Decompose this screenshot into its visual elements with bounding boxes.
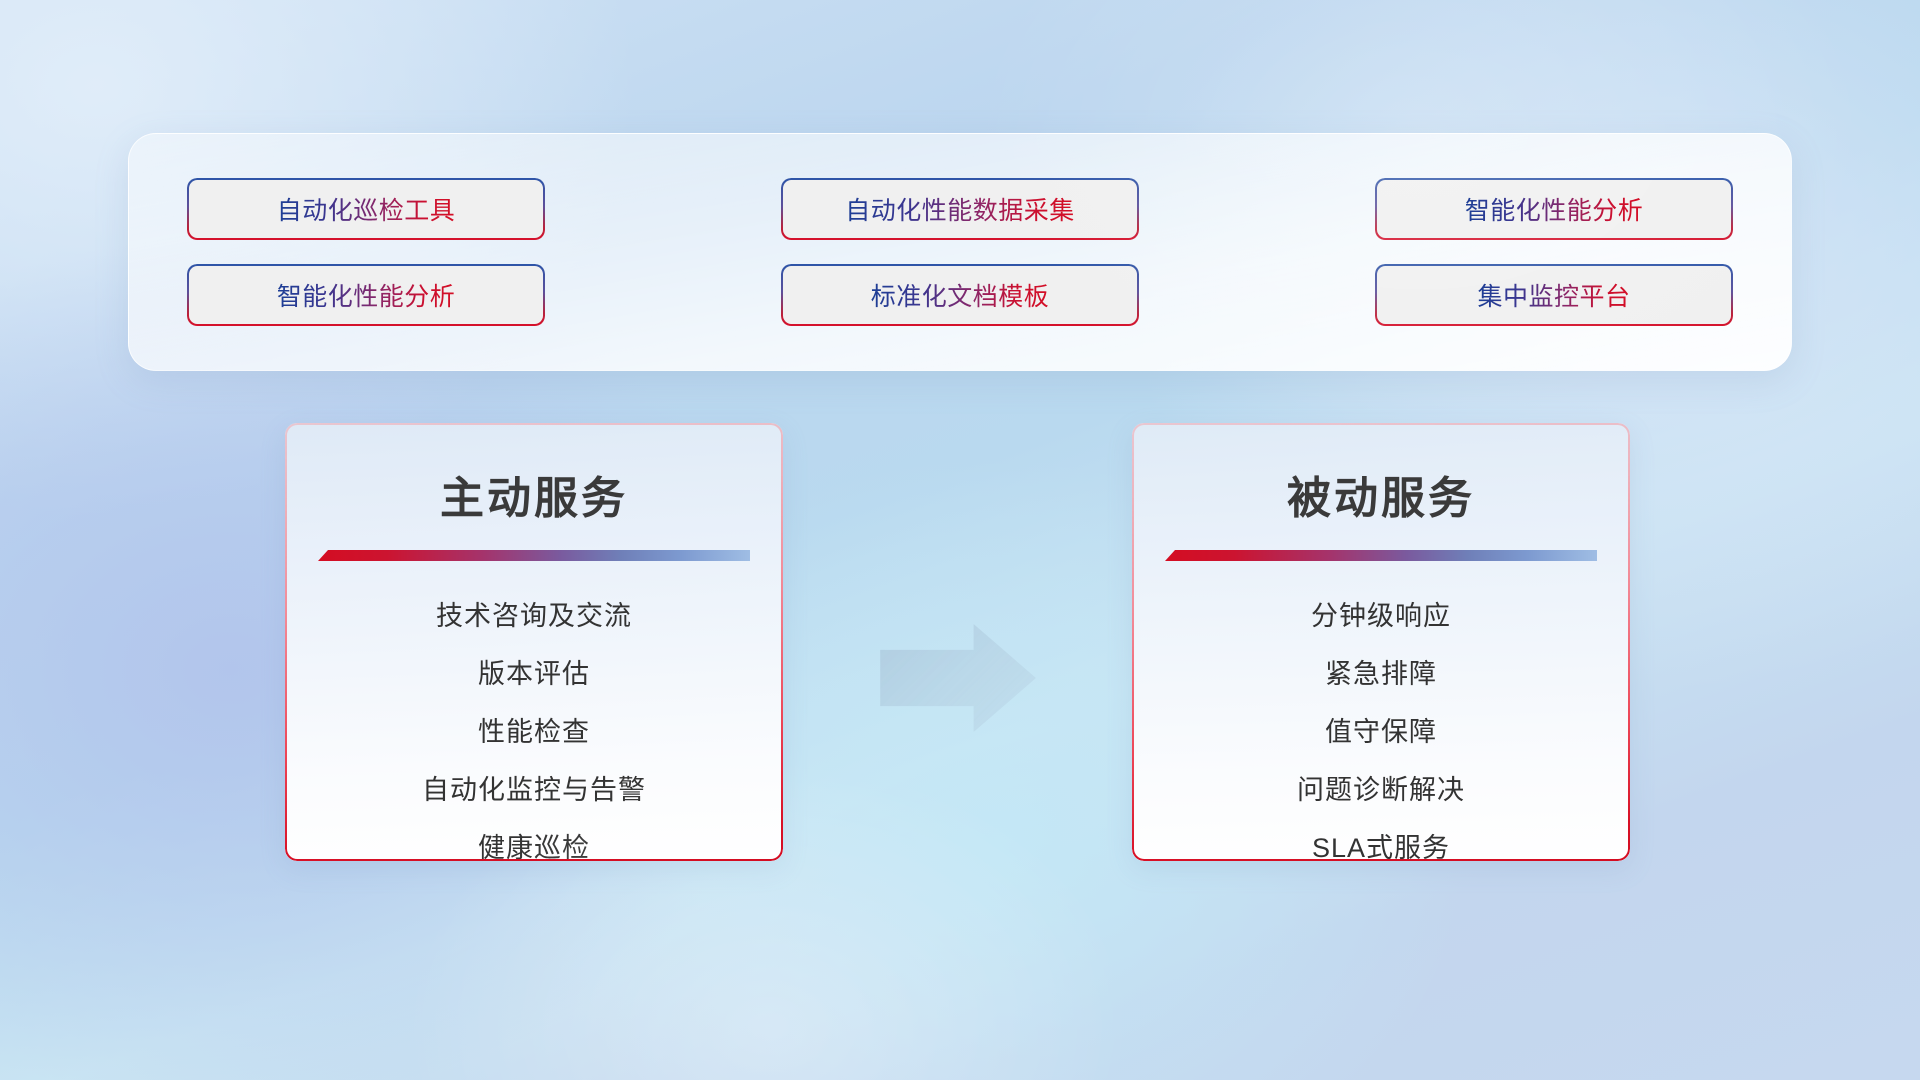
capability-row-2: 智能化性能分析 标准化文档模板 集中监控平台: [187, 264, 1733, 326]
capability-pill-label: 集中监控平台: [1477, 277, 1630, 313]
service-list: 分钟级响应 紧急排障 值守保障 问题诊断解决 SLA式服务: [1132, 584, 1630, 861]
capability-pill-label: 智能化性能分析: [277, 277, 456, 313]
list-item: 问题诊断解决: [1132, 761, 1630, 819]
service-card-proactive[interactable]: 主动服务 技术咨询及交流 版本评估 性能检查 自动化监控与告警 健康巡检: [285, 423, 783, 861]
list-item: 紧急排障: [1132, 645, 1630, 703]
service-list: 技术咨询及交流 版本评估 性能检查 自动化监控与告警 健康巡检: [285, 584, 783, 861]
capability-pill-intelligent-performance-analysis-1[interactable]: 智能化性能分析: [1375, 178, 1733, 240]
list-item: 分钟级响应: [1132, 587, 1630, 645]
list-item: 性能检查: [285, 703, 783, 761]
service-card-reactive[interactable]: 被动服务 分钟级响应 紧急排障 值守保障 问题诊断解决 SLA式服务: [1132, 423, 1630, 861]
list-item: 版本评估: [285, 645, 783, 703]
capability-pill-label: 自动化巡检工具: [277, 191, 456, 227]
arrow-right-icon: [880, 624, 1036, 732]
list-item: SLA式服务: [1132, 819, 1630, 861]
divider-bar: [1165, 550, 1597, 561]
list-item: 健康巡检: [285, 819, 783, 861]
slide-canvas: 自动化巡检工具 自动化性能数据采集 智能化性能分析 智能化性能分析 标准化文档模…: [0, 0, 1920, 1080]
list-item: 技术咨询及交流: [285, 587, 783, 645]
card-title: 主动服务: [285, 462, 783, 526]
capability-pill-label: 自动化性能数据采集: [845, 191, 1075, 227]
capability-pill-standardized-doc-template[interactable]: 标准化文档模板: [781, 264, 1139, 326]
capability-panel: 自动化巡检工具 自动化性能数据采集 智能化性能分析 智能化性能分析 标准化文档模…: [128, 133, 1792, 371]
card-title-divider: [318, 550, 750, 561]
list-item: 值守保障: [1132, 703, 1630, 761]
capability-row-1: 自动化巡检工具 自动化性能数据采集 智能化性能分析: [187, 178, 1733, 240]
card-title: 被动服务: [1132, 462, 1630, 526]
list-item: 自动化监控与告警: [285, 761, 783, 819]
capability-pill-intelligent-performance-analysis-2[interactable]: 智能化性能分析: [187, 264, 545, 326]
divider-bar: [318, 550, 750, 561]
capability-pill-label: 标准化文档模板: [871, 277, 1050, 313]
capability-pill-automation-performance-data-collection[interactable]: 自动化性能数据采集: [781, 178, 1139, 240]
card-title-divider: [1165, 550, 1597, 561]
capability-pill-label: 智能化性能分析: [1465, 191, 1644, 227]
capability-pill-automation-inspection-tool[interactable]: 自动化巡检工具: [187, 178, 545, 240]
capability-pill-centralized-monitoring-platform[interactable]: 集中监控平台: [1375, 264, 1733, 326]
